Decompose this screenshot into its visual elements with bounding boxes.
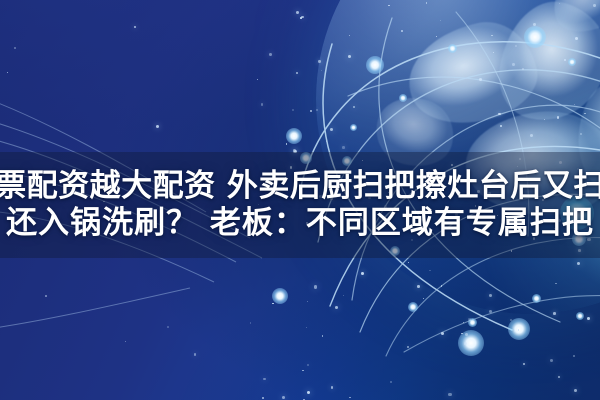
particle-dot [194, 353, 197, 356]
particle-dot [574, 104, 575, 105]
particle-dot [316, 109, 318, 111]
particle-dot [593, 4, 596, 7]
particle-dot [307, 391, 310, 394]
particle-dot [156, 125, 159, 128]
particle-dot [261, 103, 264, 106]
particle-dot [250, 322, 251, 323]
particle-dot [349, 35, 350, 36]
particle-dot [7, 72, 8, 73]
particle-dot [314, 285, 317, 288]
particle-dot [479, 78, 482, 81]
particle-dot [262, 397, 264, 399]
particle-dot [441, 285, 443, 287]
particle-dot [577, 262, 580, 265]
particle-dot [326, 141, 327, 142]
particle-dot [349, 397, 351, 399]
particle-dot [436, 36, 437, 37]
particle-dot [307, 364, 310, 367]
particle-dot [468, 318, 471, 321]
particle-dot [500, 125, 502, 127]
particle-dot [550, 359, 553, 362]
particle-dot [167, 326, 169, 328]
particle-dot [464, 342, 467, 345]
particle-dot [587, 317, 590, 320]
particle-dot [448, 393, 451, 396]
particle-dot [307, 301, 308, 302]
particle-dot [134, 26, 137, 29]
particle-dot [493, 52, 494, 53]
particle-dot [522, 68, 524, 70]
particle-dot [401, 30, 403, 32]
particle-dot [388, 5, 389, 6]
particle-dot [575, 37, 578, 40]
particle-dot [125, 341, 126, 342]
particle-dot [408, 262, 409, 263]
headline-line-2: 还入锅洗刷？ 老板：不同区域有专属扫把 [6, 207, 594, 240]
particle-dot [343, 295, 344, 296]
particle-dot [512, 63, 515, 66]
news-banner-image: 股票配资越大配资 外卖后厨扫把擦灶台后又扫地 还入锅洗刷？ 老板：不同区域有专属… [0, 0, 600, 400]
particle-dot [286, 143, 288, 145]
particle-dot [440, 20, 441, 21]
particle-dot [564, 59, 566, 61]
particle-dot [257, 79, 258, 80]
particle-dot [491, 35, 493, 37]
particle-dot [489, 294, 492, 297]
particle-dot [423, 298, 424, 299]
particle-dot [348, 55, 351, 58]
particle-dot [45, 295, 47, 297]
particle-dot [463, 322, 464, 323]
particle-dot [407, 346, 410, 349]
particle-dot [292, 109, 294, 111]
particle-dot [335, 306, 338, 309]
particle-dot [574, 389, 577, 392]
particle-dot [282, 396, 285, 399]
particle-dot [318, 60, 320, 62]
particle-dot [518, 329, 520, 331]
particle-dot [330, 128, 333, 131]
particle-dot [584, 113, 585, 114]
particle-dot [559, 3, 560, 4]
particle-dot [558, 376, 560, 378]
particle-dot [429, 270, 430, 271]
particle-dot [523, 363, 525, 365]
particle-dot [296, 72, 299, 75]
particle-dot [322, 335, 324, 337]
particle-dot [302, 370, 304, 372]
particle-dot [515, 45, 517, 47]
particle-dot [353, 106, 356, 109]
particle-dot [14, 47, 16, 49]
headline-text: 股票配资越大配资 外卖后厨扫把擦灶台后又扫地 还入锅洗刷？ 老板：不同区域有专属… [0, 152, 600, 258]
particle-dot [361, 272, 364, 275]
particle-dot [580, 133, 582, 135]
particle-dot [342, 146, 345, 149]
particle-dot [306, 327, 308, 329]
particle-dot [441, 332, 444, 335]
particle-dot [557, 116, 560, 119]
particle-dot [263, 378, 266, 381]
particle-dot [555, 283, 557, 285]
particle-dot [272, 303, 273, 304]
particle-dot [533, 23, 536, 26]
headline-line-1: 股票配资越大配资 外卖后厨扫把擦灶台后又扫地 [0, 170, 600, 203]
particle-dot [573, 355, 575, 357]
particle-dot [489, 310, 492, 313]
particle-dot [417, 285, 420, 288]
particle-dot [269, 53, 272, 56]
particle-dot [544, 119, 546, 121]
particle-dot [510, 319, 512, 321]
particle-dot [331, 386, 334, 389]
particle-dot [426, 2, 428, 4]
particle-dot [530, 134, 533, 137]
particle-dot [498, 113, 501, 116]
particle-dot [390, 381, 392, 383]
particle-dot [553, 312, 556, 315]
particle-dot [465, 333, 468, 336]
particle-dot [310, 110, 312, 112]
particle-dot [461, 333, 463, 335]
particle-dot [296, 11, 299, 14]
particle-dot [321, 70, 322, 71]
particle-dot [514, 330, 515, 331]
